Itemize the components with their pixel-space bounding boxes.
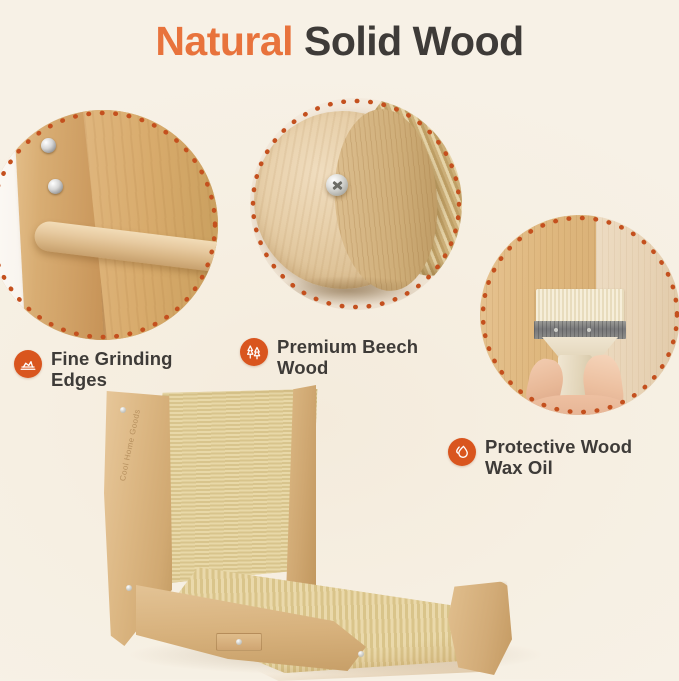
brush-ferrule (534, 321, 626, 339)
title-rest: Solid Wood (304, 18, 524, 64)
product-photo: Cool Home Goods (96, 385, 566, 679)
feature-label-premium-beech-wood: Premium Beech Wood (240, 336, 466, 379)
photo-beech-disc (250, 98, 462, 310)
feature-label-text: Premium Beech Wood (277, 336, 418, 379)
screw-icon (236, 639, 242, 645)
page-title: Natural Solid Wood (0, 18, 679, 65)
screw-icon (126, 585, 132, 591)
brush-bristles (536, 289, 624, 323)
title-highlight: Natural (155, 18, 304, 64)
infographic-canvas: Natural Solid Wood (0, 0, 679, 679)
sanding-block-icon (14, 350, 42, 378)
rivet-icon (554, 328, 558, 332)
label-line-1: Premium Beech (277, 336, 418, 357)
label-line-1: Fine Grinding (51, 348, 173, 369)
feature-photo-fine-grinding-edges (0, 110, 218, 340)
feature-photo-premium-beech-wood (250, 98, 462, 310)
rivet-icon (587, 328, 591, 332)
drop-shadow (263, 276, 433, 306)
screw-icon (120, 407, 126, 413)
screw-icon (358, 651, 364, 657)
screw-icon (41, 138, 56, 153)
label-line-2: Wood (277, 357, 328, 378)
photo-shelf-edge (0, 110, 218, 340)
trees-icon (240, 338, 268, 366)
screw-icon (48, 179, 63, 194)
